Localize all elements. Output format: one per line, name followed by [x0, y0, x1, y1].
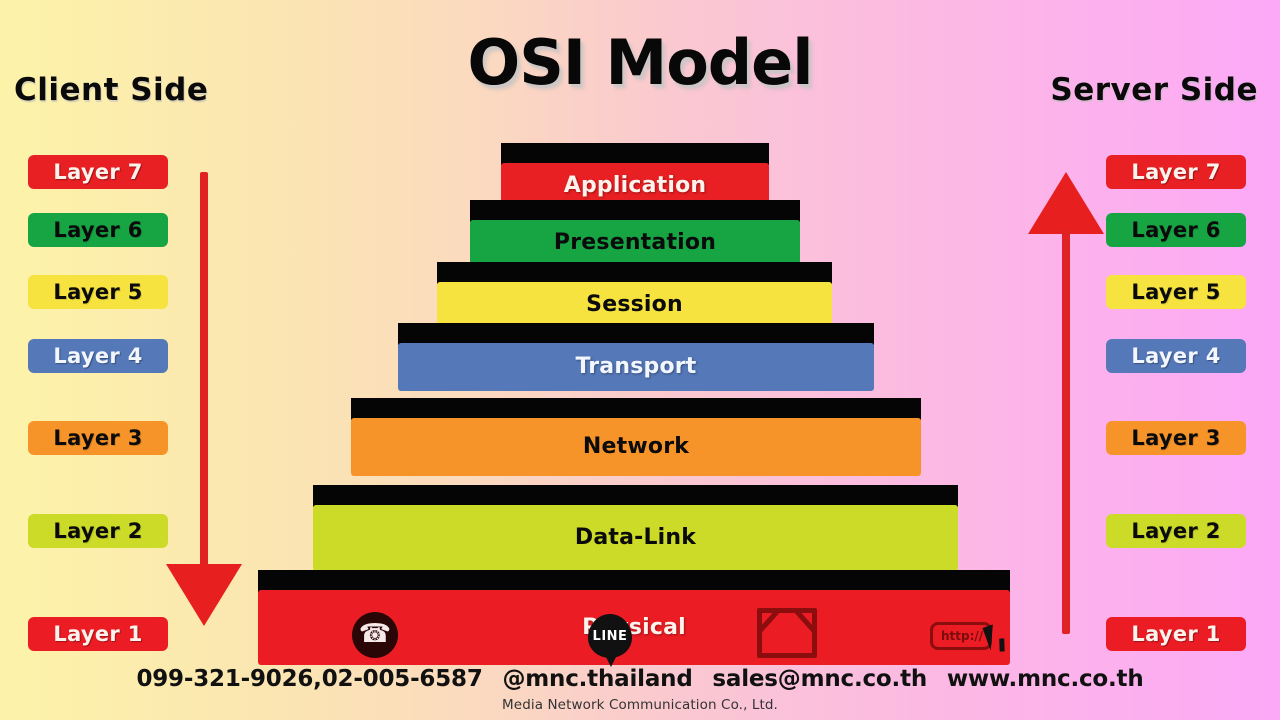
line-icon: LINE: [588, 614, 632, 658]
contact-line: @mnc.thailand: [502, 666, 692, 692]
layer-step-top: [398, 323, 874, 345]
line-icon-label: LINE: [593, 629, 628, 644]
contact-email: sales@mnc.co.th: [712, 666, 927, 692]
layer-step-top: [351, 398, 921, 420]
layer-name-label: Network: [351, 418, 921, 476]
http-label: http://: [941, 629, 983, 643]
envelope-icon: [757, 608, 817, 658]
contact-phone: 099-321-9026,02-005-6587: [136, 666, 482, 692]
layer-step-top: [437, 262, 832, 284]
layer-name-label: Transport: [398, 343, 874, 391]
layer-name-label: Session: [437, 282, 832, 328]
osi-model-diagram: OSI Model Client Side Server Side Layer …: [0, 0, 1280, 720]
contact-icon-row: ☎ LINE http://: [0, 602, 1280, 658]
phone-icon: ☎: [352, 612, 398, 658]
contact-website: www.mnc.co.th: [947, 666, 1144, 692]
layer-step-top: [258, 570, 1010, 592]
browser-url-icon: http://: [930, 618, 1002, 658]
company-name: Media Network Communication Co., Ltd.: [0, 697, 1280, 713]
contact-details: 099-321-9026,02-005-6587 @mnc.thailand s…: [0, 666, 1280, 692]
layer-name-label: Presentation: [470, 220, 800, 266]
layer-step-top: [313, 485, 958, 507]
layer-name-label: Data-Link: [313, 505, 958, 571]
layer-step-top: [501, 143, 769, 165]
layer-step-top: [470, 200, 800, 222]
